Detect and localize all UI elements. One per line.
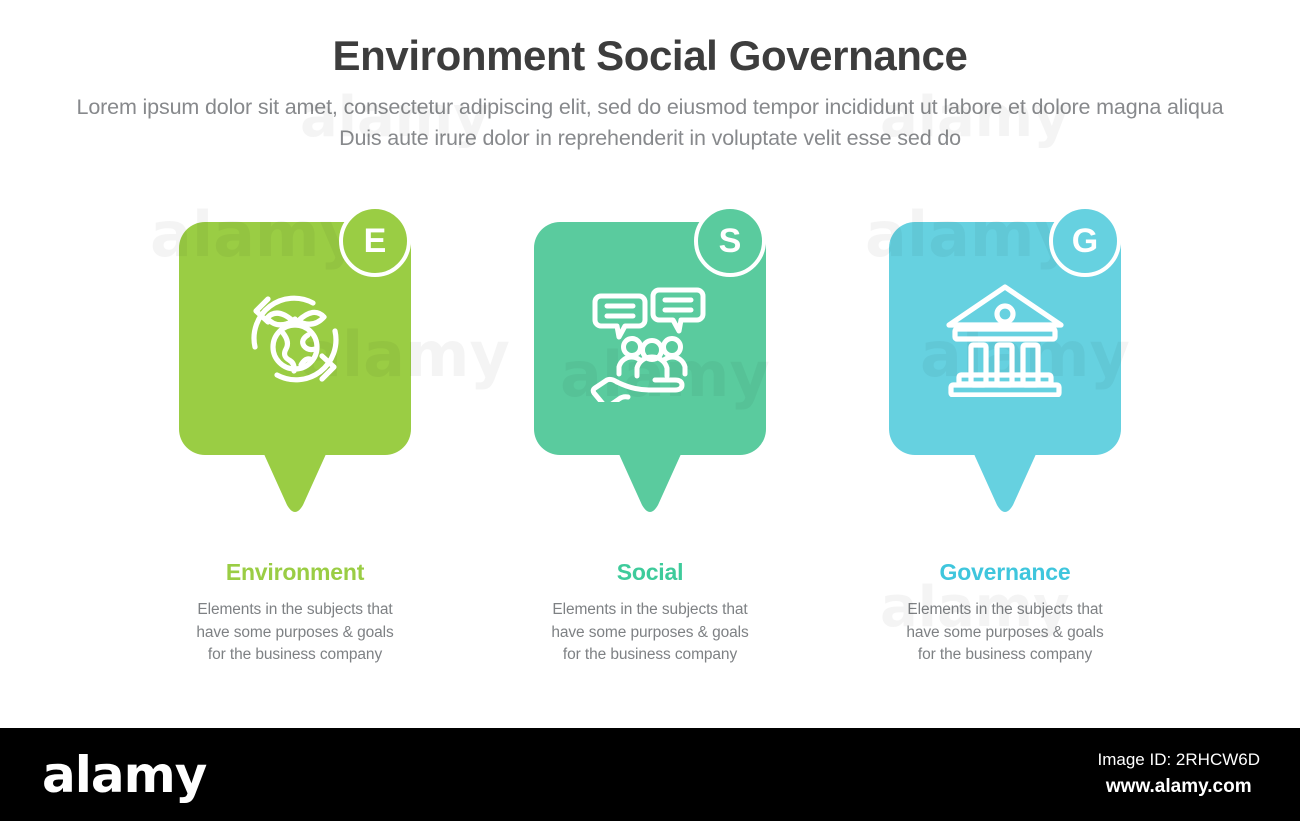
caption-governance: Governance Elements in the subjects that… <box>889 560 1121 667</box>
card-governance[interactable]: G Governance Elements in the subjects th… <box>889 205 1121 667</box>
card-description: Elements in the subjects that have some … <box>889 599 1121 666</box>
speech-bubble-governance[interactable]: G <box>889 205 1121 515</box>
badge-letter-g: G <box>1049 205 1121 277</box>
infographic-page: alamy alamy alamy alamy alamy alamy alam… <box>0 0 1300 821</box>
header: Environment Social Governance Lorem ipsu… <box>0 0 1300 153</box>
page-subtitle: Lorem ipsum dolor sit amet, consectetur … <box>65 92 1235 153</box>
caption-social: Social Elements in the subjects that hav… <box>534 560 766 667</box>
page-title: Environment Social Governance <box>0 33 1300 78</box>
card-title: Environment <box>179 560 411 585</box>
alamy-url[interactable]: www.alamy.com <box>1098 773 1260 801</box>
cards-row: E Environment Elements in the subjects t… <box>0 205 1300 667</box>
card-title: Governance <box>889 560 1121 585</box>
card-description: Elements in the subjects that have some … <box>179 599 411 666</box>
footer-bar: alamy Image ID: 2RHCW6D www.alamy.com <box>0 728 1300 821</box>
badge-letter-s: S <box>694 205 766 277</box>
badge-letter-e: E <box>339 205 411 277</box>
caption-environment: Environment Elements in the subjects tha… <box>179 560 411 667</box>
card-social[interactable]: S Social Elements in the subjects that h… <box>534 205 766 667</box>
speech-bubble-environment[interactable]: E <box>179 205 411 515</box>
alamy-logo: alamy <box>42 746 206 804</box>
speech-bubble-social[interactable]: S <box>534 205 766 515</box>
footer-meta: Image ID: 2RHCW6D www.alamy.com <box>1098 748 1260 800</box>
image-id-label: Image ID: 2RHCW6D <box>1098 748 1260 773</box>
card-description: Elements in the subjects that have some … <box>534 599 766 666</box>
card-title: Social <box>534 560 766 585</box>
card-environment[interactable]: E Environment Elements in the subjects t… <box>179 205 411 667</box>
